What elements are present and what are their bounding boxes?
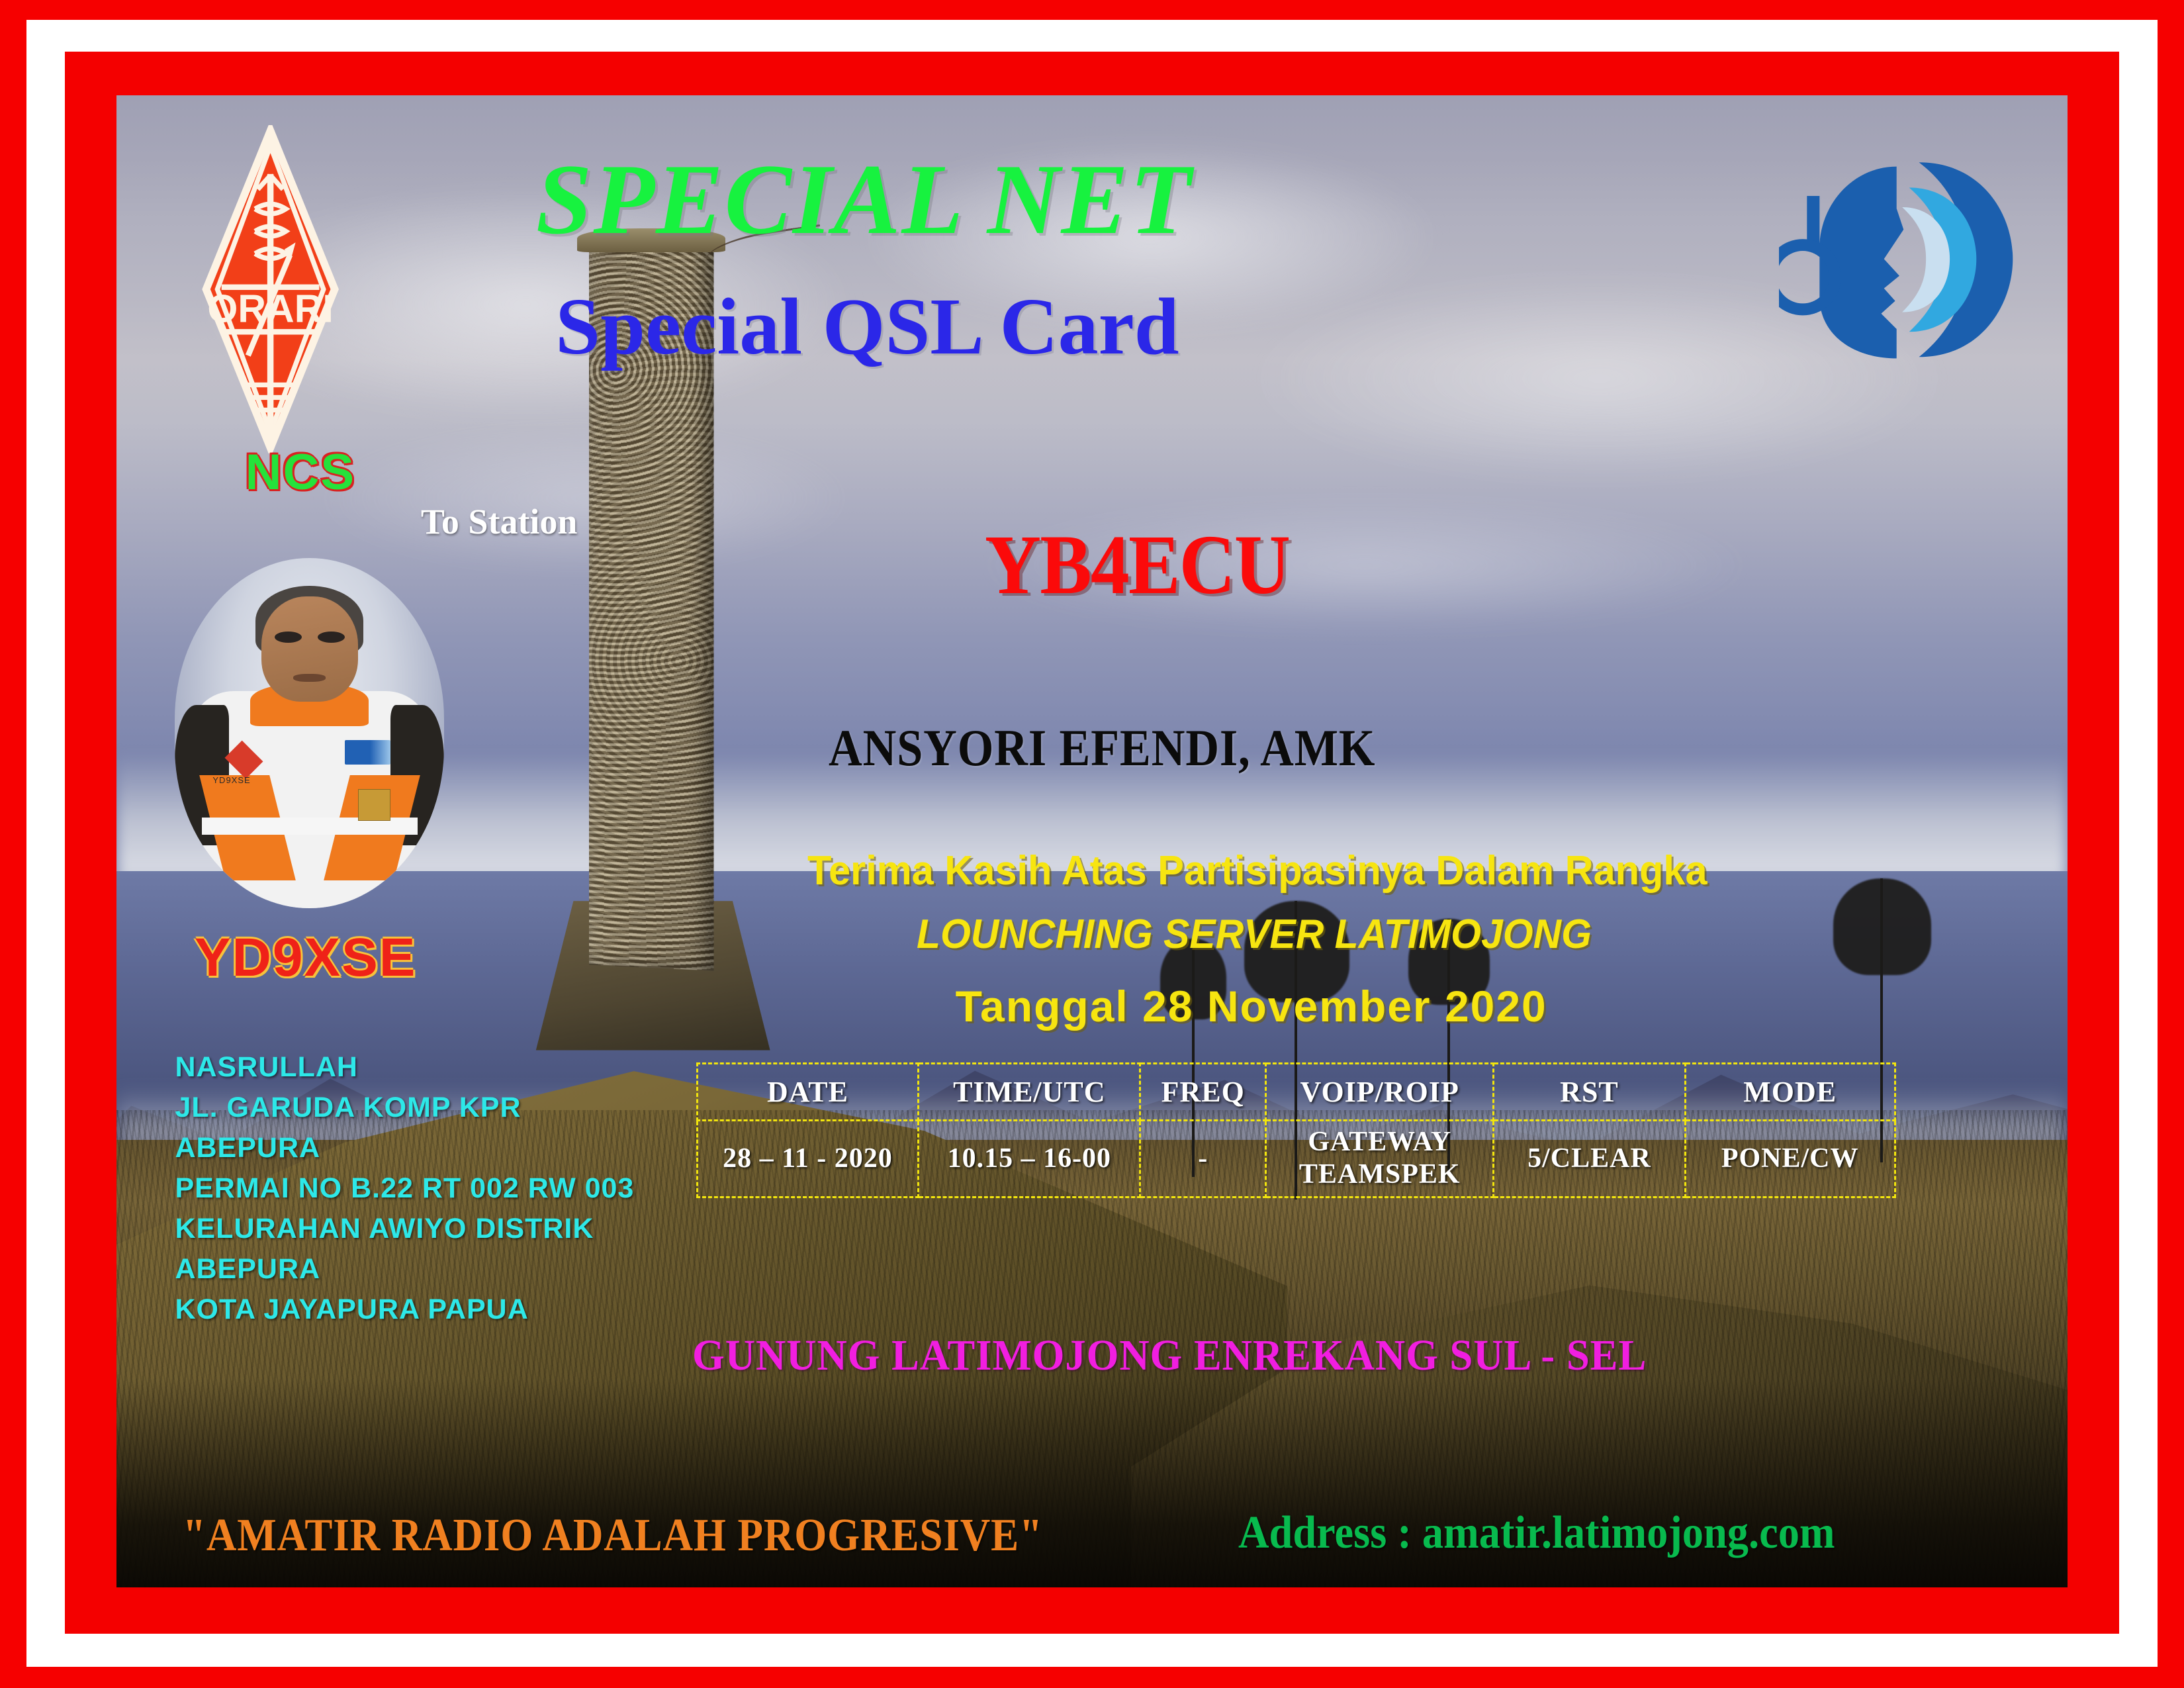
- cell-voip-line2: TEAMSPEK: [1267, 1158, 1492, 1192]
- operator-portrait: YD9XSE: [175, 558, 444, 909]
- station-callsign: YB4ECU: [985, 522, 1289, 607]
- qso-log-table: DATE TIME/UTC FREQ VOIP/ROIP RST MODE 28…: [696, 1062, 1896, 1198]
- operator-name: ANSYORI EFENDI, AMK: [829, 722, 1375, 774]
- column-header-rst: RST: [1494, 1063, 1686, 1120]
- cell-mode: PONE/CW: [1685, 1120, 1895, 1197]
- cell-time: 10.15 – 16-00: [919, 1120, 1140, 1197]
- ncs-callsign: YD9XSE: [195, 931, 417, 985]
- address-line: ABEPURA: [175, 1128, 634, 1168]
- shirt-callsign-text: YD9XSE: [212, 775, 293, 785]
- ncs-address-block: NASRULLAH JL. GARUDA KOMP KPR ABEPURA PE…: [175, 1047, 634, 1330]
- column-header-voip: VOIP/ROIP: [1266, 1063, 1494, 1120]
- page-title: SPECIAL NET: [536, 149, 1193, 250]
- cell-voip-line1: GATEWAY: [1267, 1126, 1492, 1159]
- orari-logo: ORARI: [181, 125, 360, 453]
- column-header-date: DATE: [697, 1063, 919, 1120]
- event-date: Tanggal 28 November 2020: [956, 984, 1547, 1028]
- address-line: PERMAI NO B.22 RT 002 RW 003: [175, 1168, 634, 1209]
- address-line: NASRULLAH: [175, 1047, 634, 1088]
- table-row: 28 – 11 - 2020 10.15 – 16-00 - GATEWAY T…: [697, 1120, 1895, 1197]
- qsl-card-outer-frame: ORARI: [0, 0, 2184, 1688]
- to-station-label: To Station: [421, 501, 578, 542]
- footer-motto: "AMATIR RADIO ADALAH PROGRESIVE": [183, 1513, 1043, 1559]
- footer-web-address: Address : amatir.latimojong.com: [1238, 1510, 1835, 1556]
- qsl-card-inner-red-frame: ORARI: [65, 52, 2119, 1634]
- cell-date: 28 – 11 - 2020: [697, 1120, 919, 1197]
- shirt-club-logo: [345, 740, 390, 765]
- address-line: ABEPURA: [175, 1249, 634, 1289]
- column-header-mode: MODE: [1685, 1063, 1895, 1120]
- column-header-time: TIME/UTC: [919, 1063, 1140, 1120]
- cell-rst: 5/CLEAR: [1494, 1120, 1686, 1197]
- thanks-line: Terima Kasih Atas Partisipasinya Dalam R…: [807, 851, 1707, 892]
- address-line: KELURAHAN AWIYO DISTRIK: [175, 1209, 634, 1249]
- headset-radio-logo: [1779, 128, 2017, 389]
- cell-voip: GATEWAY TEAMSPEK: [1266, 1120, 1494, 1197]
- qsl-card-white-stripe: ORARI: [26, 20, 2158, 1667]
- cloud-shape: [312, 424, 858, 573]
- qsl-card-photo-canvas: ORARI: [116, 95, 2068, 1587]
- column-header-freq: FREQ: [1140, 1063, 1266, 1120]
- orari-wordmark: ORARI: [208, 287, 334, 331]
- location-caption: GUNUNG LATIMOJONG ENREKANG SUL - SEL: [692, 1334, 1647, 1378]
- address-line: JL. GARUDA KOMP KPR: [175, 1088, 634, 1128]
- table-header-row: DATE TIME/UTC FREQ VOIP/ROIP RST MODE: [697, 1063, 1895, 1120]
- ncs-badge: NCS: [246, 447, 355, 498]
- event-name: LOUNCHING SERVER LATIMOJONG: [917, 914, 1592, 955]
- page-subtitle: Special QSL Card: [555, 287, 1179, 367]
- cell-freq: -: [1140, 1120, 1266, 1197]
- address-line: KOTA JAYAPURA PAPUA: [175, 1289, 634, 1330]
- shirt-id-card: [358, 789, 390, 821]
